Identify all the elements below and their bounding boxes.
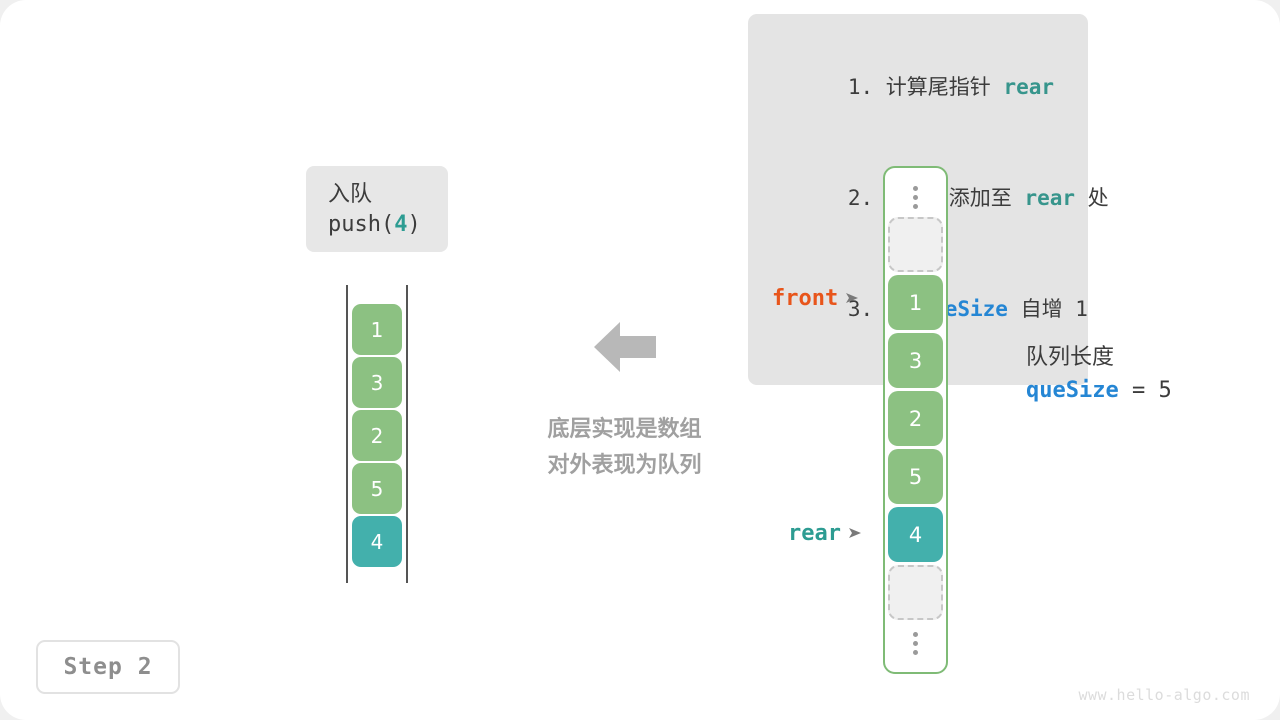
stack-cell: 2 <box>352 410 402 461</box>
vertical-ellipsis-icon-bottom <box>885 623 946 663</box>
array-cell-highlighted: 4 <box>888 507 943 562</box>
diagram-canvas: 1. 计算尾指针 rear 2. 将元素添加至 rear 处 3. 将 queS… <box>0 0 1280 720</box>
operation-box: 入队 push(4) <box>306 166 448 252</box>
array-cell: 3 <box>888 333 943 388</box>
stack-cell-list: 1 3 2 5 4 <box>352 304 402 567</box>
rear-pointer-text: rear <box>788 521 841 546</box>
diagram-caption: 底层实现是数组 对外表现为队列 <box>503 412 746 484</box>
stack-cell: 1 <box>352 304 402 355</box>
instruction-3-suffix: 自增 1 <box>1008 297 1088 321</box>
array-cell-empty <box>888 565 943 620</box>
pointer-arrow-icon <box>845 286 859 311</box>
pointer-arrow-icon <box>848 521 862 546</box>
front-pointer-label: front <box>772 286 859 311</box>
stack-cell: 5 <box>352 463 402 514</box>
instruction-2-keyword: rear <box>1024 186 1075 210</box>
step-badge: Step 2 <box>36 640 180 694</box>
watermark: www.hello-algo.com <box>1078 686 1250 704</box>
queue-abstraction-stack: 1 3 2 5 4 <box>346 285 408 583</box>
stack-cell-highlighted: 4 <box>352 516 402 567</box>
operation-code-prefix: push( <box>328 212 394 237</box>
instruction-line-1: 1. 计算尾指针 rear <box>772 32 1066 143</box>
queue-size-note: 队列长度 queSize = 5 <box>1026 341 1172 407</box>
caption-line-2: 对外表现为队列 <box>503 448 746 484</box>
operation-title: 入队 <box>328 180 448 210</box>
operation-code: push(4) <box>328 210 448 240</box>
queue-size-title: 队列长度 <box>1026 341 1172 374</box>
left-arrow-icon <box>594 321 656 373</box>
array-storage-container: 1 3 2 5 4 <box>883 166 948 674</box>
stack-rail-left <box>346 285 348 583</box>
rear-pointer-label: rear <box>788 521 862 546</box>
queue-size-equals: = <box>1119 378 1159 403</box>
instruction-1-keyword: rear <box>1003 75 1054 99</box>
array-cell-empty <box>888 217 943 272</box>
queue-size-value: 5 <box>1158 378 1171 403</box>
caption-line-1: 底层实现是数组 <box>503 412 746 448</box>
array-cell: 5 <box>888 449 943 504</box>
array-cell: 2 <box>888 391 943 446</box>
queue-size-var: queSize <box>1026 378 1119 403</box>
instruction-2-suffix: 处 <box>1075 186 1109 210</box>
stack-rail-right <box>406 285 408 583</box>
stack-cell: 3 <box>352 357 402 408</box>
instruction-1-prefix: 1. 计算尾指针 <box>848 75 1004 99</box>
front-pointer-text: front <box>772 286 838 311</box>
queue-size-expression: queSize = 5 <box>1026 374 1172 407</box>
array-cell: 1 <box>888 275 943 330</box>
vertical-ellipsis-icon-top <box>885 177 946 217</box>
operation-code-value: 4 <box>394 212 407 237</box>
operation-code-suffix: ) <box>407 212 420 237</box>
